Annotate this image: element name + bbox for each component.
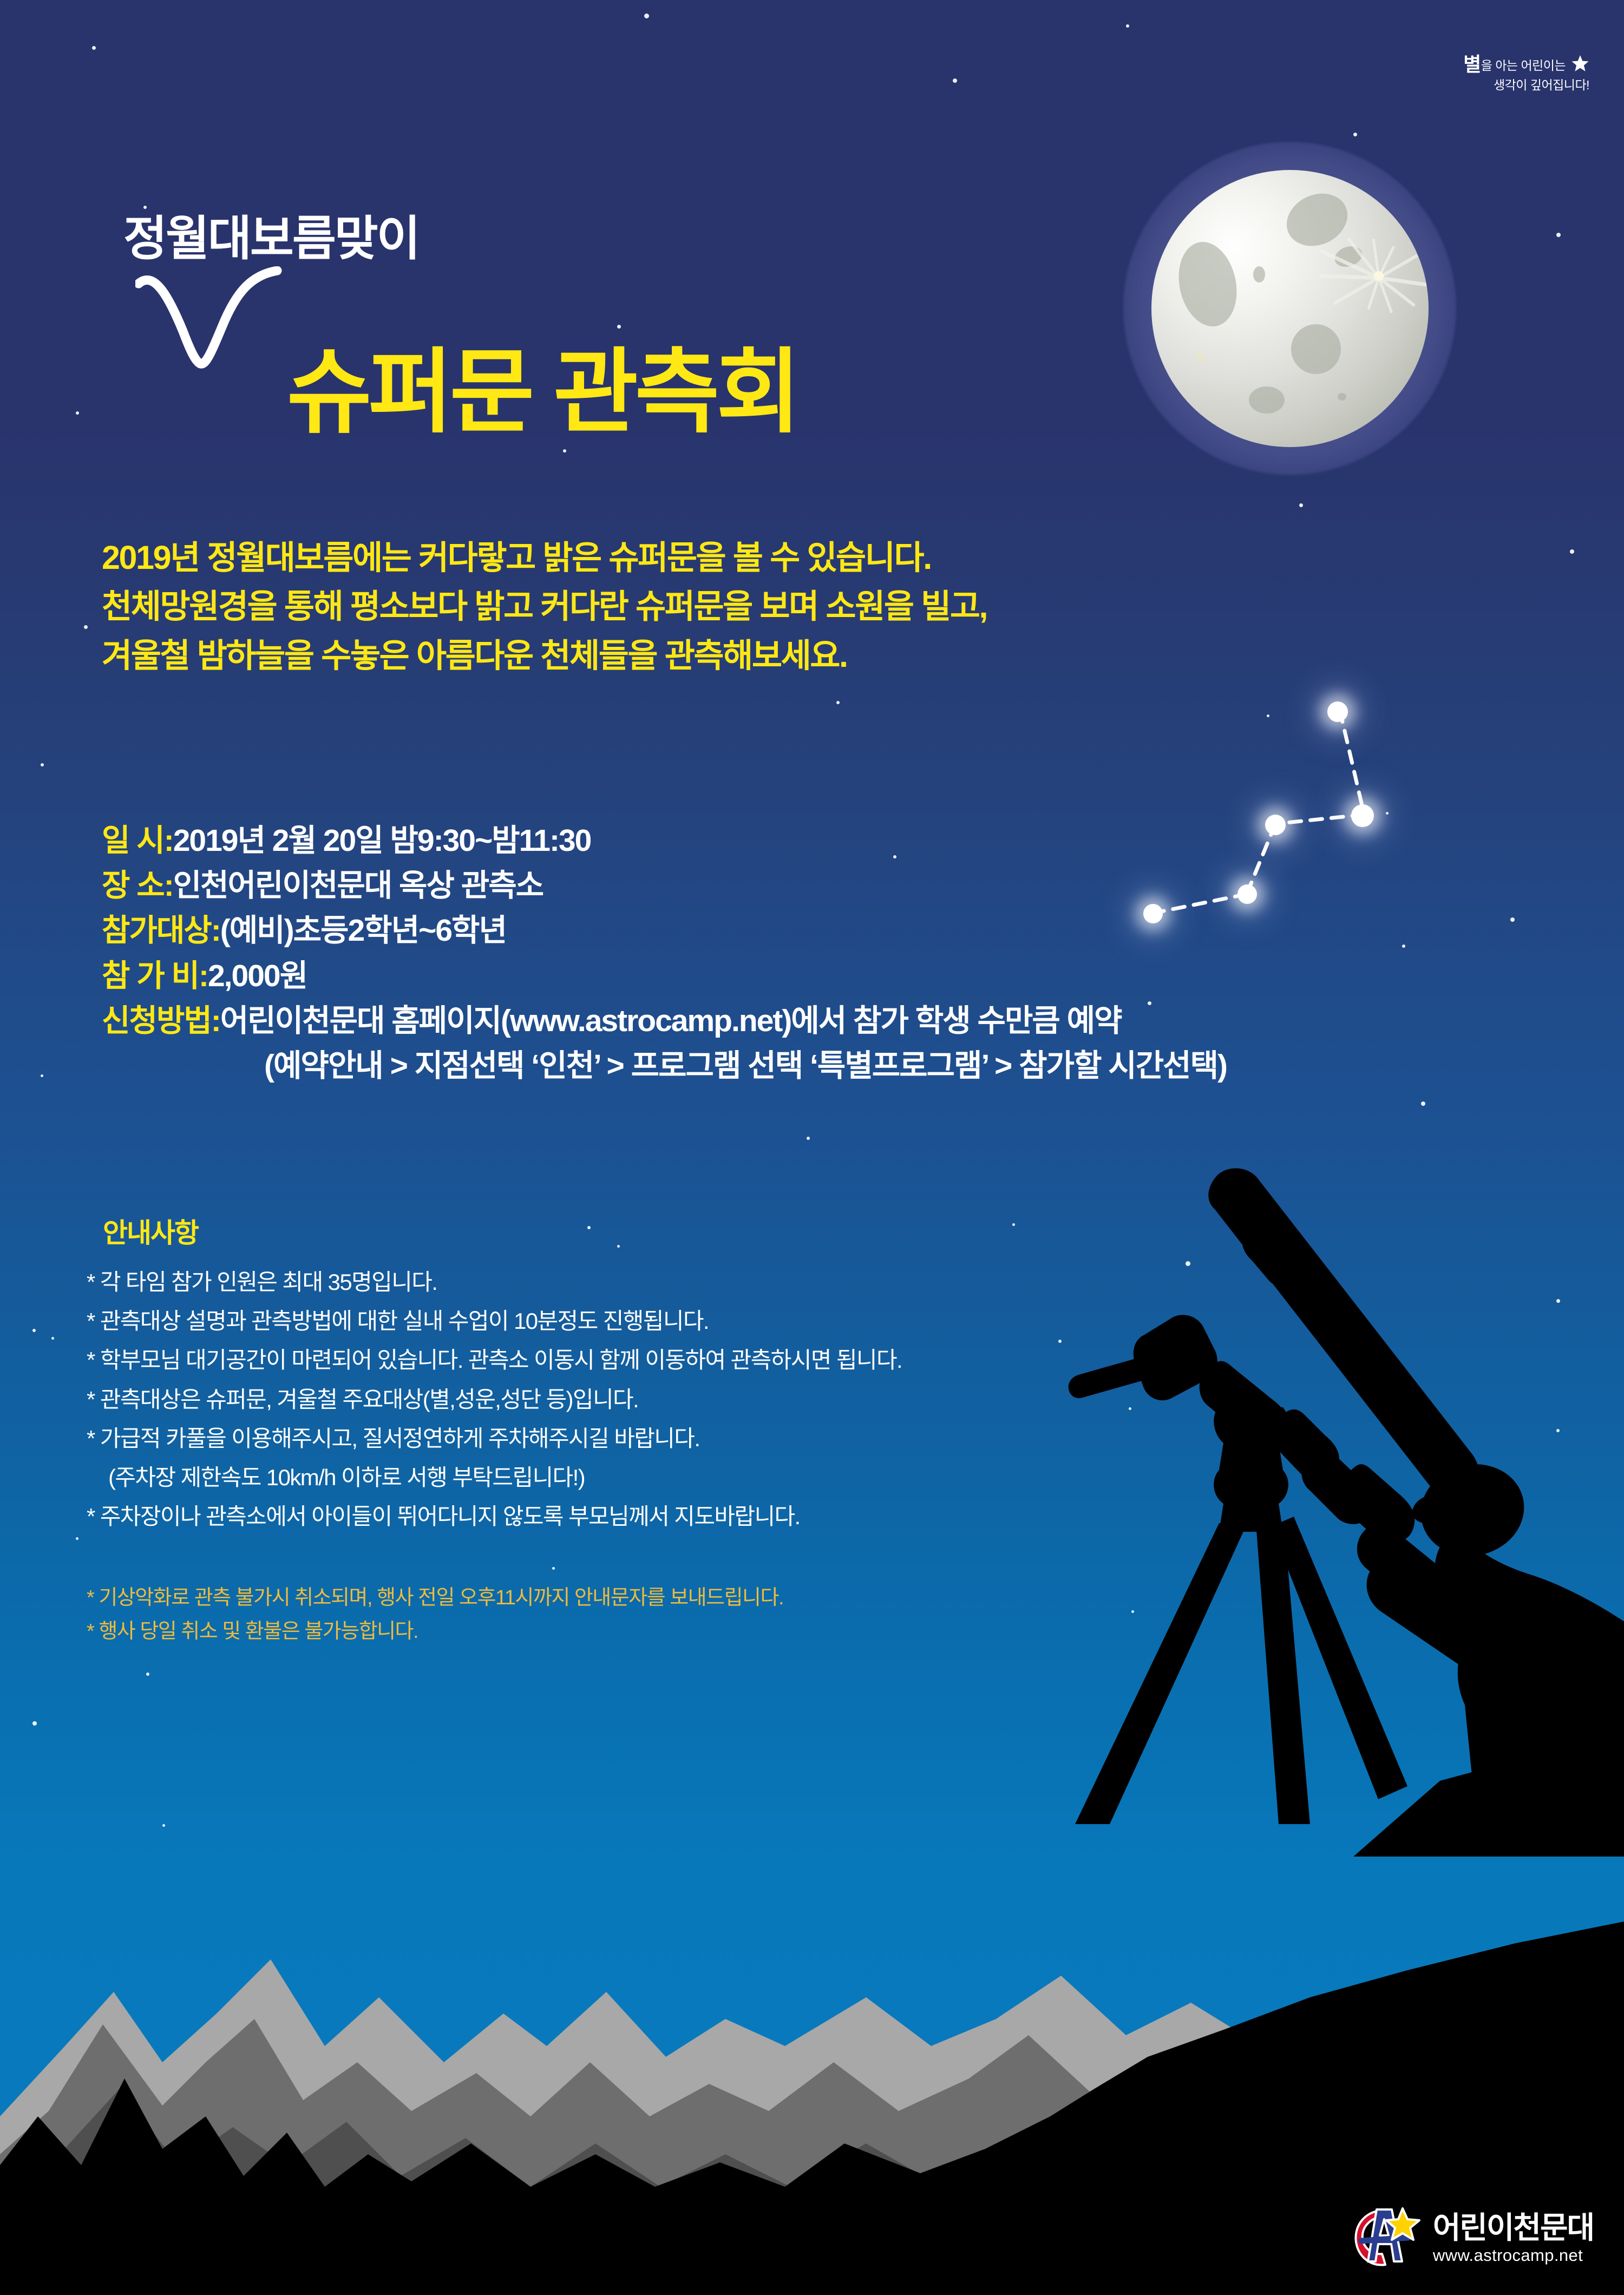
page-title: 슈퍼문 관측회: [287, 346, 798, 438]
background-star: [41, 763, 44, 766]
background-star: [1299, 503, 1303, 507]
notice-item: * 가급적 카풀을 이용해주시고, 질서정연하게 주차해주시길 바랍니다.: [87, 1419, 902, 1458]
background-star: [92, 46, 96, 50]
info-label: 신청방법: [102, 999, 211, 1044]
background-star: [32, 1721, 37, 1726]
constellation-star: [1265, 815, 1286, 835]
logo-name: 어린이천문대: [1433, 2212, 1594, 2244]
background-star: [84, 625, 88, 629]
info-label: 참 가 비: [102, 954, 199, 999]
info-sep: :: [211, 999, 220, 1044]
notice-warning-item: * 행사 당일 취소 및 환불은 불가능합니다.: [87, 1615, 783, 1649]
background-star: [552, 1567, 555, 1570]
background-star: [1353, 133, 1357, 136]
notice-warning-list: * 기상악화로 관측 불가시 취소되며, 행사 전일 오후11시까지 안내문자를…: [87, 1582, 783, 1648]
info-continuation: (예약안내 > 지점선택 ‘인천’ > 프로그램 선택 ‘특별프로그램’ > 참…: [102, 1044, 1227, 1089]
moon-crater: [1253, 266, 1265, 283]
poster-canvas: 별을 아는 어린이는 생각이 깊어집니다! 정월대보름맞이 슈퍼문 관측회 20…: [0, 0, 1624, 2295]
brand-tagline: 별을 아는 어린이는 생각이 깊어집니다!: [1394, 53, 1589, 93]
notice-item: * 각 타임 참가 인원은 최대 35명입니다.: [87, 1263, 902, 1302]
notice-item: * 관측대상은 슈퍼문, 겨울철 주요대상(별,성운,성단 등)입니다.: [87, 1380, 902, 1419]
info-sep: :: [164, 818, 173, 863]
astrocamp-a-star-logo-icon: [1352, 2205, 1421, 2271]
background-star: [1402, 945, 1405, 948]
constellation-star: [1327, 701, 1348, 722]
moon-crater: [1338, 393, 1346, 401]
notice-item: * 관측대상 설명과 관측방법에 대한 실내 수업이 10분정도 진행됩니다.: [87, 1302, 902, 1341]
background-star: [162, 1824, 165, 1827]
background-star: [617, 1245, 620, 1248]
constellation-star: [1237, 884, 1257, 904]
notice-item: * 학부모님 대기공간이 마련되어 있습니다. 관측소 이동시 함께 이동하여 …: [87, 1341, 902, 1380]
info-value: 인천어린이천문대 옥상 관측소: [173, 868, 543, 903]
background-star: [953, 78, 957, 83]
background-star: [1556, 233, 1561, 237]
notice-section-title: 안내사항: [103, 1211, 198, 1250]
background-star: [587, 1226, 591, 1229]
background-star: [1510, 917, 1515, 922]
background-star: [644, 14, 649, 18]
info-value: (예비)초등2학년~6학년: [220, 913, 506, 948]
info-label: 장 소: [102, 863, 164, 908]
intro-line-1: 2019년 정월대보름에는 커다랗고 밝은 슈퍼문을 볼 수 있습니다.: [102, 533, 987, 582]
background-star: [1126, 24, 1129, 28]
background-star: [76, 1537, 78, 1540]
notice-warning-item: * 기상악화로 관측 불가시 취소되며, 행사 전일 오후11시까지 안내문자를…: [87, 1582, 783, 1615]
background-star: [563, 449, 566, 453]
background-star: [51, 1337, 54, 1340]
background-star: [32, 1329, 36, 1332]
supermoon-illustration: [1123, 142, 1456, 475]
notice-item-sub: (주차장 제한속도 10km/h 이하로 서행 부탁드립니다!): [87, 1458, 902, 1497]
moon-crater: [1196, 353, 1206, 362]
notice-list: * 각 타임 참가 인원은 최대 35명입니다. * 관측대상 설명과 관측방법…: [87, 1263, 902, 1537]
info-sep: :: [211, 908, 220, 953]
info-label: 참가대상: [102, 908, 211, 953]
background-star: [41, 1074, 43, 1077]
tagline-star-word: 별: [1463, 53, 1481, 75]
background-star: [1012, 1223, 1015, 1226]
background-star: [836, 701, 840, 704]
info-value: 2,000원: [208, 959, 307, 993]
intro-line-2: 천체망원경을 통해 평소보다 밝고 커다란 슈퍼문을 보며 소원을 빌고,: [102, 582, 987, 631]
tagline-line-1-rest: 을 아는 어린이는: [1481, 58, 1566, 73]
swoosh-underline-icon: [135, 266, 298, 375]
info-value: 2019년 2월 20일 밤9:30~밤11:30: [173, 823, 591, 858]
background-star: [807, 1137, 810, 1140]
info-row: 참 가 비 : 2,000원: [102, 954, 1227, 999]
intro-line-3: 겨울철 밤하늘을 수놓은 아름다운 천체들을 관측해보세요.: [102, 631, 987, 680]
notice-item: * 주차장이나 관측소에서 아이들이 뛰어다니지 않도록 부모님께서 지도바랍니…: [87, 1497, 902, 1536]
info-row: 일 시 : 2019년 2월 20일 밤9:30~밤11:30: [102, 818, 1227, 863]
moon-crater: [1291, 324, 1341, 374]
moon-crater: [1249, 386, 1285, 414]
info-label: 일 시: [102, 818, 164, 863]
moon-disc: [1151, 170, 1429, 447]
info-sep: :: [164, 863, 173, 908]
info-value: 어린이천문대 홈페이지(www.astrocamp.net)에서 참가 학생 수…: [220, 1004, 1122, 1038]
info-sep: :: [199, 954, 208, 999]
event-info-list: 일 시 : 2019년 2월 20일 밤9:30~밤11:30 장 소 : 인천…: [102, 818, 1227, 1089]
info-row: 신청방법 : 어린이천문대 홈페이지(www.astrocamp.net)에서 …: [102, 999, 1227, 1044]
moon-crater: [1171, 237, 1245, 332]
page-kicker: 정월대보름맞이: [123, 200, 419, 269]
tagline-line-2: 생각이 깊어집니다!: [1394, 78, 1589, 93]
background-star: [146, 1673, 149, 1676]
logo-url: www.astrocamp.net: [1433, 2247, 1594, 2265]
moon-crater: [1278, 184, 1356, 255]
background-star: [617, 325, 621, 329]
constellation-star: [1351, 804, 1374, 827]
info-row: 장 소 : 인천어린이천문대 옥상 관측소: [102, 863, 1227, 908]
telescope-observer-silhouette: [1029, 1153, 1624, 1857]
astrocamp-logo[interactable]: 어린이천문대 www.astrocamp.net: [1352, 2205, 1594, 2271]
star-icon: [1571, 55, 1589, 73]
tagline-line-1: 별을 아는 어린이는: [1394, 53, 1589, 76]
logo-text: 어린이천문대 www.astrocamp.net: [1433, 2212, 1594, 2265]
info-row: 참가대상 : (예비)초등2학년~6학년: [102, 908, 1227, 953]
intro-paragraph: 2019년 정월대보름에는 커다랗고 밝은 슈퍼문을 볼 수 있습니다. 천체망…: [102, 533, 987, 680]
background-star: [1421, 1101, 1425, 1106]
background-star: [1570, 549, 1574, 554]
background-star: [76, 411, 79, 415]
